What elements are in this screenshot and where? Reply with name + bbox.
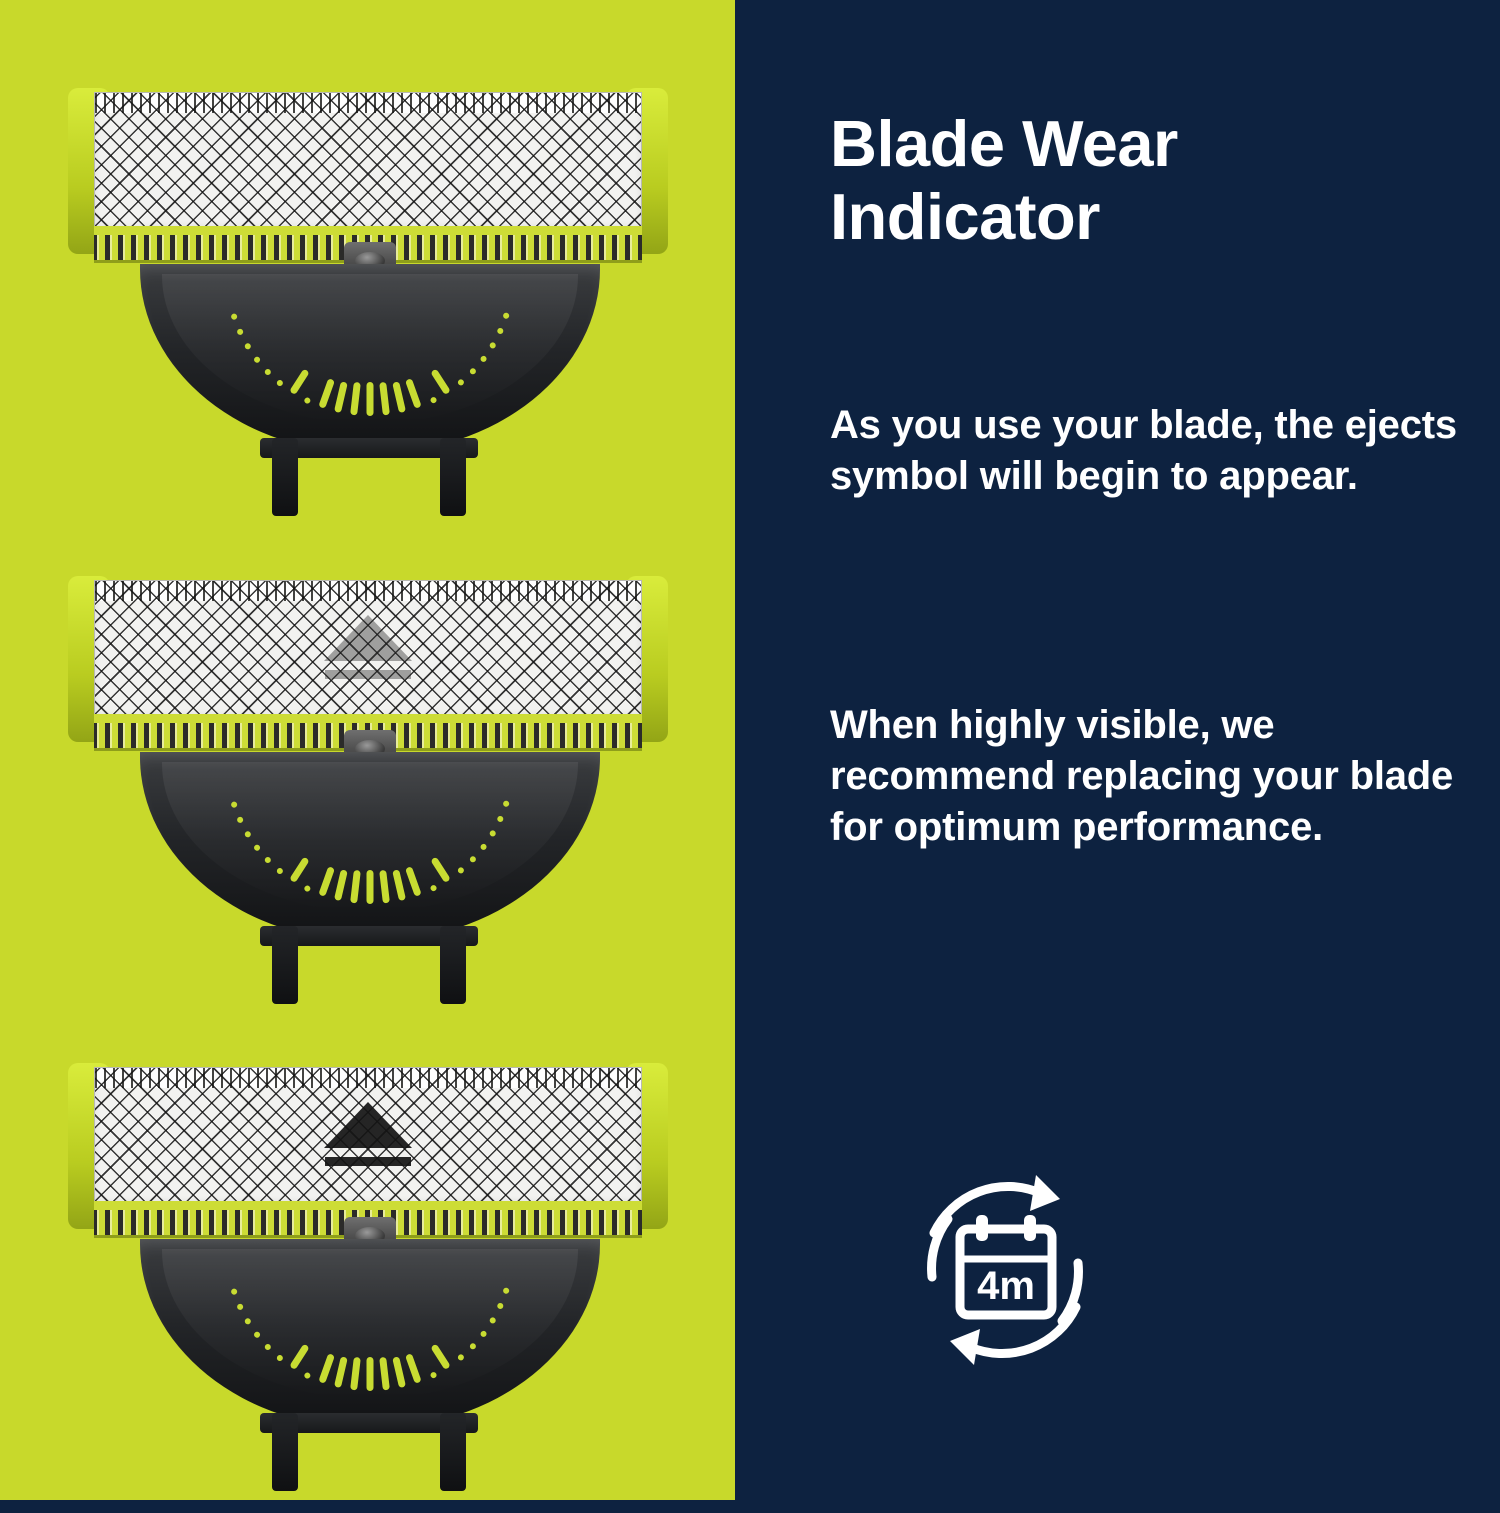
blade-stage-replace	[60, 1035, 675, 1495]
blade-tick-scale	[140, 264, 600, 454]
blade-stage-new	[60, 60, 675, 520]
blade-tick-scale	[140, 1239, 600, 1429]
promo-image: Blade Wear Indicator As you use your bla…	[0, 0, 1500, 1500]
blade-legs	[140, 438, 600, 538]
blade-holder	[140, 242, 600, 510]
foil-mesh	[95, 93, 641, 233]
blade-stage-worn	[60, 548, 675, 1008]
blade-legs	[140, 1413, 600, 1513]
blade-head	[68, 576, 668, 746]
wear-indicator-eject-icon	[322, 1102, 414, 1174]
blade-head	[68, 1063, 668, 1233]
blade-holder	[140, 1217, 600, 1485]
blade-foil	[94, 1067, 642, 1209]
blade-illustration-panel	[0, 0, 735, 1500]
blade-legs	[140, 926, 600, 1026]
replace-every-4-months-icon: 4m	[890, 1155, 1120, 1385]
blade-holder	[140, 730, 600, 998]
blade-foil	[94, 580, 642, 722]
blade-head	[68, 88, 668, 258]
wear-indicator-eject-icon	[322, 615, 414, 687]
blade-foil	[94, 92, 642, 234]
paragraph-1: As you use your blade, the ejects symbol…	[830, 400, 1460, 502]
page-title: Blade Wear Indicator	[830, 108, 1450, 254]
replace-icon-label: 4m	[977, 1264, 1035, 1308]
text-panel: Blade Wear Indicator As you use your bla…	[735, 0, 1500, 1500]
paragraph-2: When highly visible, we recommend replac…	[830, 700, 1460, 854]
blade-tick-scale	[140, 752, 600, 942]
